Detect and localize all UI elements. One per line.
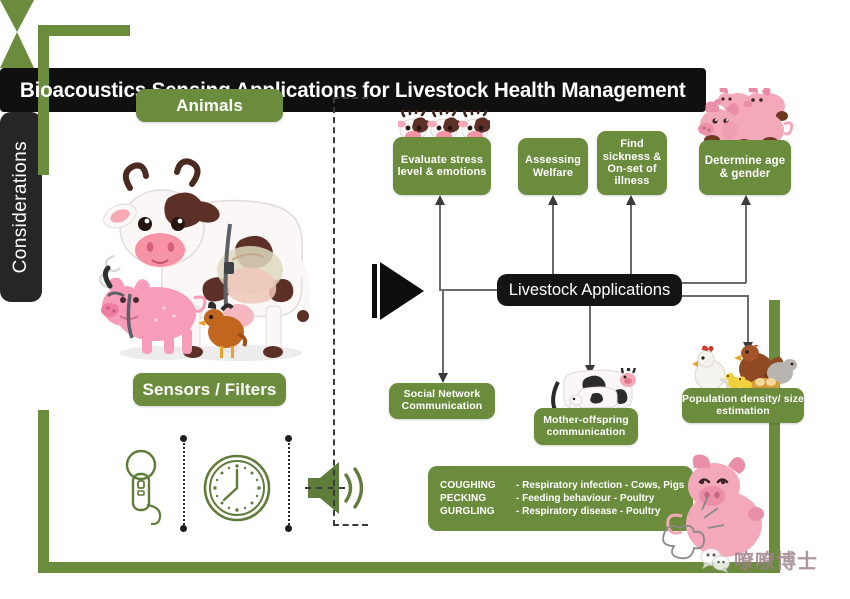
clock-icon bbox=[202, 453, 272, 523]
application-box-population-density-label: Population density/ size estimation bbox=[682, 394, 804, 418]
wechat-icon bbox=[700, 547, 730, 573]
connector-population-v bbox=[747, 295, 749, 343]
animals-label: Animals bbox=[136, 89, 283, 122]
connector-population-arrowhead bbox=[742, 341, 754, 352]
connector-social-arrowhead bbox=[437, 372, 449, 383]
application-box-mother-offspring-label: Mother-offspring communication bbox=[534, 415, 638, 439]
connector-age-v bbox=[745, 203, 747, 283]
flow-arrow-bar bbox=[372, 264, 377, 318]
connector-welfare-v bbox=[552, 203, 554, 275]
application-box-mother-offspring[interactable]: Mother-offspring communication bbox=[534, 408, 638, 445]
microphone-icon bbox=[120, 447, 168, 525]
legend-sound: COUGHING bbox=[440, 480, 516, 491]
application-box-social-network-label: Social Network Communication bbox=[389, 389, 495, 413]
application-box-welfare[interactable]: Assessing Welfare bbox=[518, 138, 588, 195]
application-box-social-network[interactable]: Social Network Communication bbox=[389, 383, 495, 419]
connector-mother-v bbox=[589, 306, 591, 366]
connector-sickness-v bbox=[630, 203, 632, 275]
application-box-evaluate[interactable]: Evaluate stress level & emotions bbox=[393, 137, 491, 195]
sensors-filters-label: Sensors / Filters bbox=[133, 373, 286, 406]
legend-meaning: - Feeding behaviour - Poultry bbox=[516, 493, 654, 504]
connector-sickness-arrowhead bbox=[625, 195, 637, 206]
watermark-text: 嘹嘹博士 bbox=[734, 545, 818, 574]
connector-mother-arrowhead bbox=[584, 364, 596, 375]
frame-right-segment bbox=[769, 300, 780, 573]
connector-population-h bbox=[682, 295, 748, 297]
watermark: 嘹嘹博士 bbox=[700, 545, 818, 574]
frame-top-segment bbox=[38, 25, 130, 36]
application-box-population-density[interactable]: Population density/ size estimation bbox=[682, 388, 804, 423]
frame-left-lower-segment bbox=[38, 410, 49, 573]
considerations-label-text: Considerations bbox=[10, 141, 32, 273]
application-box-sickness[interactable]: Find sickness & On-set of illness bbox=[597, 131, 667, 195]
connector-social-v bbox=[442, 289, 444, 373]
frame-bottom-segment bbox=[38, 562, 780, 573]
dotted-separator-2 bbox=[288, 440, 290, 528]
legend-meaning: - Respiratory disease - Poultry bbox=[516, 506, 661, 517]
chickens-nest-illustration bbox=[686, 345, 798, 393]
flow-arrow-icon bbox=[380, 262, 424, 320]
considerations-label: Considerations bbox=[0, 112, 42, 302]
dotted-separator-1 bbox=[183, 440, 185, 528]
connector-hub-right-h bbox=[682, 282, 746, 284]
legend-row: PECKING - Feeding behaviour - Poultry bbox=[440, 493, 681, 504]
legend-sound: PECKING bbox=[440, 493, 516, 504]
dot-cap-bottom-1 bbox=[180, 525, 187, 532]
legend-row: GURGLING - Respiratory disease - Poultry bbox=[440, 506, 681, 517]
dashed-bracket bbox=[333, 97, 368, 526]
livestock-applications-hub-label: Livestock Applications bbox=[509, 281, 670, 300]
connector-welfare-arrowhead bbox=[547, 195, 559, 206]
legend-meaning: - Respiratory infection - Cows, Pigs bbox=[516, 480, 684, 491]
application-box-evaluate-label: Evaluate stress level & emotions bbox=[396, 154, 488, 179]
application-box-age-gender[interactable]: Determine age & gender bbox=[699, 140, 791, 195]
legend-sound: GURGLING bbox=[440, 506, 516, 517]
sensors-filters-label-text: Sensors / Filters bbox=[143, 380, 277, 399]
livestock-applications-hub[interactable]: Livestock Applications bbox=[497, 274, 682, 306]
dot-cap-top-1 bbox=[180, 435, 187, 442]
connector-social-h bbox=[442, 289, 498, 291]
frame-down-arrow-icon bbox=[0, 0, 34, 32]
dot-cap-bottom-2 bbox=[285, 525, 292, 532]
animals-label-text: Animals bbox=[176, 96, 243, 115]
connector-evaluate-v bbox=[439, 203, 441, 291]
connector-evaluate-arrowhead bbox=[434, 195, 446, 206]
sound-legend: COUGHING - Respiratory infection - Cows,… bbox=[428, 466, 693, 531]
application-box-age-gender-label: Determine age & gender bbox=[699, 155, 791, 181]
legend-row: COUGHING - Respiratory infection - Cows,… bbox=[440, 480, 681, 491]
sensor-icon-row bbox=[120, 437, 350, 532]
dot-cap-top-2 bbox=[285, 435, 292, 442]
application-box-welfare-label: Assessing Welfare bbox=[518, 154, 588, 179]
farm-animals-illustration bbox=[90, 120, 320, 370]
frame-up-arrow-icon bbox=[0, 32, 34, 68]
diagram-canvas: Bioacoustics Sensing Applications for Li… bbox=[0, 0, 850, 599]
connector-age-arrowhead bbox=[740, 195, 752, 206]
application-box-sickness-label: Find sickness & On-set of illness bbox=[597, 138, 667, 187]
